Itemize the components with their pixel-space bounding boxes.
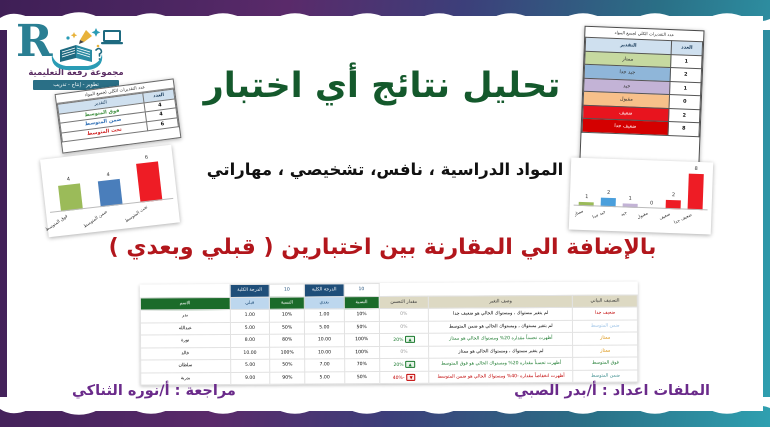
- total-before-value: 10: [269, 284, 304, 297]
- right-row-count-0: 1: [671, 54, 702, 69]
- col-header-pct-before: النسبة: [270, 297, 305, 310]
- cell-pct-after-4: 70%: [344, 359, 379, 372]
- bar-value-2: 4: [57, 175, 80, 183]
- cell-improvement-2: ▲20%: [379, 333, 429, 346]
- cell-change-desc-3: لم يتغير مستواك ، ومستواك الحالي هو ممتا…: [429, 345, 573, 358]
- right-grade-table: العدد التقدير 1 ممتاز 2 جيد جدا 1 جيد 0 …: [582, 37, 704, 137]
- right-bar-chart: 8ضعيف جدا2ضعيف0مقبول1جيد2جيد جدا1ممتاز: [569, 158, 713, 235]
- cell-name-1: عبدالله: [140, 322, 230, 335]
- cell-improvement-value-2: 20%: [393, 338, 403, 343]
- cell-change-desc-5: أظهرت انخفاضاً مقداره -40% ومستواك الحال…: [429, 370, 573, 383]
- bar-category-1: ضمن المتوسط: [83, 210, 109, 230]
- right-row-count-1: 2: [670, 68, 701, 83]
- cell-classification-1: ضمن المتوسط: [573, 319, 638, 332]
- cell-after-2: 10.00: [305, 334, 345, 347]
- left-bar-chart-card: 6تحت المتوسط4ضمن المتوسط4فوق المتوسط: [40, 145, 180, 237]
- bar-0: 8: [687, 174, 703, 210]
- slide-background: R: [0, 0, 770, 427]
- col-header-name: الاسم: [140, 297, 230, 310]
- bar-value-3: 1: [622, 195, 637, 202]
- bar-value-5: 1: [579, 193, 594, 200]
- cell-name-4: سلطان: [141, 359, 231, 372]
- cell-before-3: 10.00: [230, 347, 270, 360]
- col-header-change-desc: وصف التغير: [429, 295, 573, 308]
- bar-value-1: 4: [97, 171, 120, 179]
- bar-category-1: ضعيف: [658, 212, 671, 222]
- cell-pct-before-5: 90%: [270, 372, 305, 385]
- cell-change-desc-4: أظهرت تحسناً مقداره 20% ومستواك الحالي ه…: [429, 357, 573, 370]
- bar-category-0: تحت المتوسط: [124, 205, 149, 224]
- cell-change-desc-0: لم يتغير مستواك ، ومستواك الحالي هو ضعيف…: [429, 307, 573, 320]
- page-subtitle: المواد الدراسية ، نافس، تشخيصي ، مهاراتي: [185, 160, 585, 179]
- cell-pct-after-0: 10%: [344, 309, 379, 322]
- bar-value-2: 0: [644, 200, 659, 207]
- cell-classification-4: فوق المتوسط: [573, 357, 638, 370]
- trend-up-icon: ▲: [406, 361, 415, 368]
- cell-before-2: 8.00: [230, 334, 270, 347]
- results-table-card: 10 الدرجة الكلية 10 الدرجة الكلية التصني…: [140, 281, 639, 385]
- page-title: تحليل نتائج أي اختبار: [182, 68, 582, 105]
- total-after-label: الدرجة الكلية: [304, 284, 344, 297]
- bar-2: 4: [58, 183, 83, 212]
- bar-category-2: فوق المتوسط: [45, 214, 69, 233]
- col-header-improvement: مقدار التحسن: [379, 296, 429, 309]
- cell-before-0: 1.00: [230, 309, 270, 322]
- right-row-grade-5: ضعيف جدا: [582, 118, 668, 135]
- logo-mark: R: [12, 22, 140, 70]
- cell-classification-3: ممتاز: [573, 344, 638, 357]
- results-table: 10 الدرجة الكلية 10 الدرجة الكلية التصني…: [140, 281, 639, 385]
- right-chart-plot-area: 8ضعيف جدا2ضعيف0مقبول1جيد2جيد جدا1ممتاز: [576, 166, 707, 211]
- cell-improvement-value-4: 20%: [393, 363, 403, 368]
- cell-classification-2: ممتاز: [573, 332, 638, 345]
- cell-pct-after-2: 100%: [344, 334, 379, 347]
- cell-pct-after-3: 100%: [344, 346, 379, 359]
- bar-0: 6: [136, 161, 162, 203]
- cell-before-5: 9.00: [230, 372, 270, 385]
- footer-author: الملفات اعداد : أ/بدر الصبي: [514, 383, 710, 399]
- cell-after-5: 5.00: [305, 371, 345, 384]
- cell-after-4: 7.00: [305, 359, 345, 372]
- bar-value-0: 8: [689, 166, 704, 173]
- bar-category-0: ضعيف جدا: [673, 213, 693, 226]
- right-grade-table-card: عدد التقديرات الكلي لجميع المواد العدد ا…: [579, 26, 704, 165]
- cell-change-desc-2: أظهرت تحسناً مقداره 20% ومستواك الحالي ه…: [429, 332, 573, 345]
- cell-pct-after-1: 50%: [344, 321, 379, 334]
- brand-logo: R: [12, 22, 140, 94]
- bar-category-3: جيد: [620, 210, 628, 217]
- bar-value-4: 2: [601, 190, 616, 197]
- page-note-red: بالإضافة الي المقارنة بين اختبارين ( قبل…: [90, 235, 675, 260]
- cell-improvement-0: 0%: [379, 308, 429, 321]
- cell-before-4: 5.00: [230, 359, 270, 372]
- cell-change-desc-1: لم يتغير مستواك ، ومستواك الحالي هو ضمن …: [429, 320, 573, 333]
- cell-name-3: خالد: [141, 347, 231, 360]
- bar-value-0: 6: [135, 153, 158, 161]
- total-after-value: 10: [344, 284, 379, 297]
- total-before-label: الدرجة الكلية: [230, 284, 270, 297]
- cell-improvement-4: ▲20%: [379, 358, 429, 371]
- cell-name-2: نورة: [141, 334, 231, 347]
- bar-category-5: ممتاز: [574, 209, 585, 218]
- logo-emblem-icon: [46, 24, 132, 72]
- right-row-count-2: 1: [670, 81, 701, 96]
- right-row-count-4: 2: [669, 108, 700, 123]
- col-header-pct-after: النسبة: [344, 296, 379, 309]
- cell-pct-before-4: 50%: [270, 359, 305, 372]
- cell-improvement-value-5: -40%: [393, 376, 405, 381]
- cell-improvement-5: ▼-40%: [379, 371, 429, 384]
- trend-down-icon: ▼: [407, 374, 416, 381]
- col-header-classification: التصنيف البياني: [573, 294, 638, 307]
- right-bar-chart-card: 8ضعيف جدا2ضعيف0مقبول1جيد2جيد جدا1ممتاز: [569, 158, 713, 235]
- cell-pct-before-2: 80%: [270, 334, 305, 347]
- cell-before-1: 5.00: [230, 322, 270, 335]
- bar-category-4: جيد جدا: [591, 210, 606, 221]
- cell-improvement-1: 0%: [379, 321, 429, 334]
- cell-pct-after-5: 50%: [345, 371, 380, 384]
- cell-pct-before-0: 10%: [270, 309, 305, 322]
- left-chart-plot-area: 6تحت المتوسط4ضمن المتوسط4فوق المتوسط: [47, 153, 171, 212]
- cell-after-3: 10.00: [305, 346, 345, 359]
- bar-value-1: 2: [666, 192, 681, 199]
- cell-after-0: 1.00: [304, 309, 344, 322]
- bar-category-2: مقبول: [637, 211, 649, 220]
- cell-after-1: 5.00: [304, 321, 344, 334]
- col-header-before: قبلي: [230, 297, 270, 310]
- cell-improvement-3: 0%: [379, 346, 429, 359]
- left-bar-chart: 6تحت المتوسط4ضمن المتوسط4فوق المتوسط: [40, 145, 180, 237]
- col-header-after: بعدي: [304, 296, 344, 309]
- trend-up-icon: ▲: [405, 336, 414, 343]
- cell-classification-5: ضمن المتوسط: [573, 369, 638, 382]
- bar-1: 4: [98, 179, 123, 208]
- footer-reviewer: مراجعة : أ/نوره الثناكي: [72, 383, 236, 399]
- right-table-header-count: العدد: [671, 41, 702, 56]
- cell-pct-before-1: 50%: [270, 322, 305, 335]
- cell-classification-0: ضعيف جدا: [573, 307, 638, 320]
- cell-name-0: بدر: [140, 309, 230, 322]
- right-row-count-3: 0: [669, 95, 700, 110]
- right-row-count-5: 8: [668, 122, 699, 137]
- cell-pct-before-3: 100%: [270, 347, 305, 360]
